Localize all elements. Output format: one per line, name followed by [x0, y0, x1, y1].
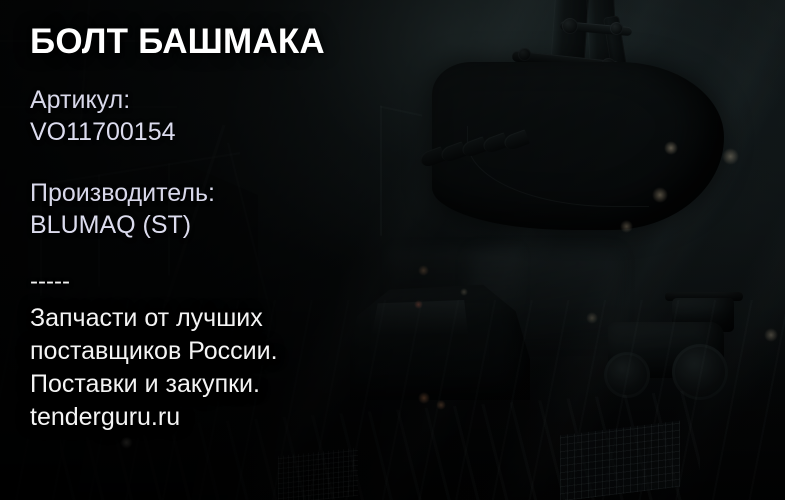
manufacturer-value: BLUMAQ (ST) — [30, 209, 215, 241]
promo-line-1: Запчасти от лучших — [30, 302, 278, 335]
product-title: БОЛТ БАШМАКА — [30, 22, 325, 62]
manufacturer-label: Производитель: — [30, 177, 215, 209]
article-value: VO11700154 — [30, 116, 176, 148]
promo-line-2: поставщиков России. — [30, 335, 278, 368]
section-divider: ----- — [30, 270, 70, 294]
site-url: tenderguru.ru — [30, 401, 278, 434]
article-label: Артикул: — [30, 84, 176, 116]
promo-block: Запчасти от лучших поставщиков России. П… — [30, 302, 278, 434]
product-card: БОЛТ БАШМАКА Артикул: VO11700154 Произво… — [0, 0, 785, 500]
article-field: Артикул: VO11700154 — [30, 84, 176, 148]
manufacturer-field: Производитель: BLUMAQ (ST) — [30, 177, 215, 241]
promo-line-3: Поставки и закупки. — [30, 368, 278, 401]
card-content: БОЛТ БАШМАКА Артикул: VO11700154 Произво… — [0, 0, 785, 500]
